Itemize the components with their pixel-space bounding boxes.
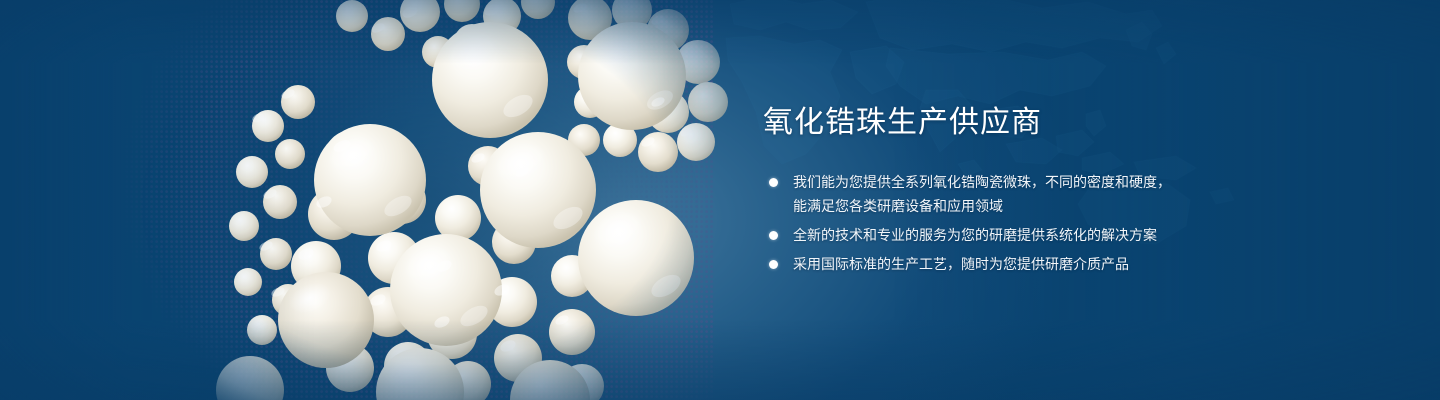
- list-item-line2: 能满足您各类研磨设备和应用领域: [793, 194, 1323, 218]
- bullet-dot-icon: [769, 178, 778, 187]
- bullet-dot-icon: [769, 231, 778, 240]
- page-title: 氧化锆珠生产供应商: [763, 104, 1323, 142]
- list-item: 我们能为您提供全系列氧化锆陶瓷微珠，不同的密度和硬度， 能满足您各类研磨设备和应…: [763, 170, 1323, 218]
- banner-copy: 氧化锆珠生产供应商 我们能为您提供全系列氧化锆陶瓷微珠，不同的密度和硬度， 能满…: [763, 104, 1323, 276]
- list-item: 采用国际标准的生产工艺，随时为您提供研磨介质产品: [763, 252, 1323, 276]
- list-item-line1: 我们能为您提供全系列氧化锆陶瓷微珠，不同的密度和硬度，: [793, 170, 1323, 194]
- list-item-line1: 全新的技术和专业的服务为您的研磨提供系统化的解决方案: [793, 223, 1323, 247]
- bullet-dot-icon: [769, 260, 778, 269]
- list-item-line1: 采用国际标准的生产工艺，随时为您提供研磨介质产品: [793, 252, 1323, 276]
- list-item: 全新的技术和专业的服务为您的研磨提供系统化的解决方案: [763, 223, 1323, 247]
- product-hero-banner: 氧化锆珠生产供应商 我们能为您提供全系列氧化锆陶瓷微珠，不同的密度和硬度， 能满…: [0, 0, 1440, 400]
- feature-list: 我们能为您提供全系列氧化锆陶瓷微珠，不同的密度和硬度， 能满足您各类研磨设备和应…: [763, 170, 1323, 276]
